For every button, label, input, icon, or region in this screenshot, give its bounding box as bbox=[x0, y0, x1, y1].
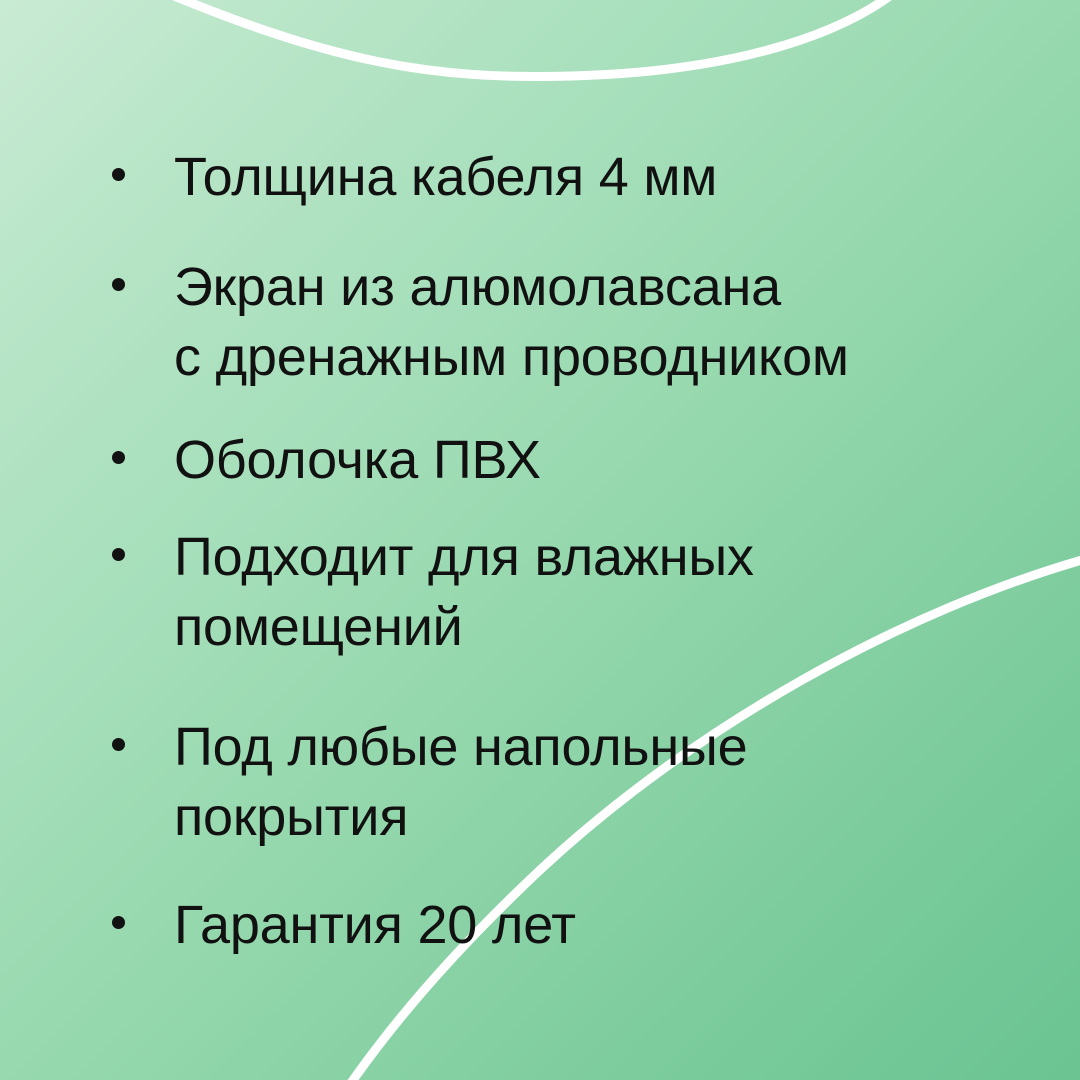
bullet-dot-icon bbox=[112, 278, 125, 291]
list-item-label: Экран из алюмолавсана с дренажным провод… bbox=[174, 252, 1042, 392]
feature-bullet-list: Толщина кабеля 4 мм Экран из алюмолавсан… bbox=[0, 0, 1080, 1080]
bullet-dot-icon bbox=[112, 451, 125, 464]
bullet-dot-icon bbox=[112, 548, 125, 561]
list-item: Гарантия 20 лет bbox=[112, 890, 1042, 960]
list-item: Подходит для влажных помещений bbox=[112, 522, 1042, 662]
list-item: Толщина кабеля 4 мм bbox=[112, 142, 1042, 212]
bullet-dot-icon bbox=[112, 916, 125, 929]
list-item: Экран из алюмолавсана с дренажным провод… bbox=[112, 252, 1042, 392]
list-item: Под любые напольные покрытия bbox=[112, 712, 1042, 852]
list-item: Оболочка ПВХ bbox=[112, 425, 1042, 495]
list-item-label: Оболочка ПВХ bbox=[174, 425, 1042, 495]
list-item-label: Толщина кабеля 4 мм bbox=[174, 142, 1042, 212]
bullet-dot-icon bbox=[112, 168, 125, 181]
feature-list-slide: Толщина кабеля 4 мм Экран из алюмолавсан… bbox=[0, 0, 1080, 1080]
list-item-label: Подходит для влажных помещений bbox=[174, 522, 1042, 662]
list-item-label: Гарантия 20 лет bbox=[174, 890, 1042, 960]
bullet-dot-icon bbox=[112, 738, 125, 751]
list-item-label: Под любые напольные покрытия bbox=[174, 712, 1042, 852]
